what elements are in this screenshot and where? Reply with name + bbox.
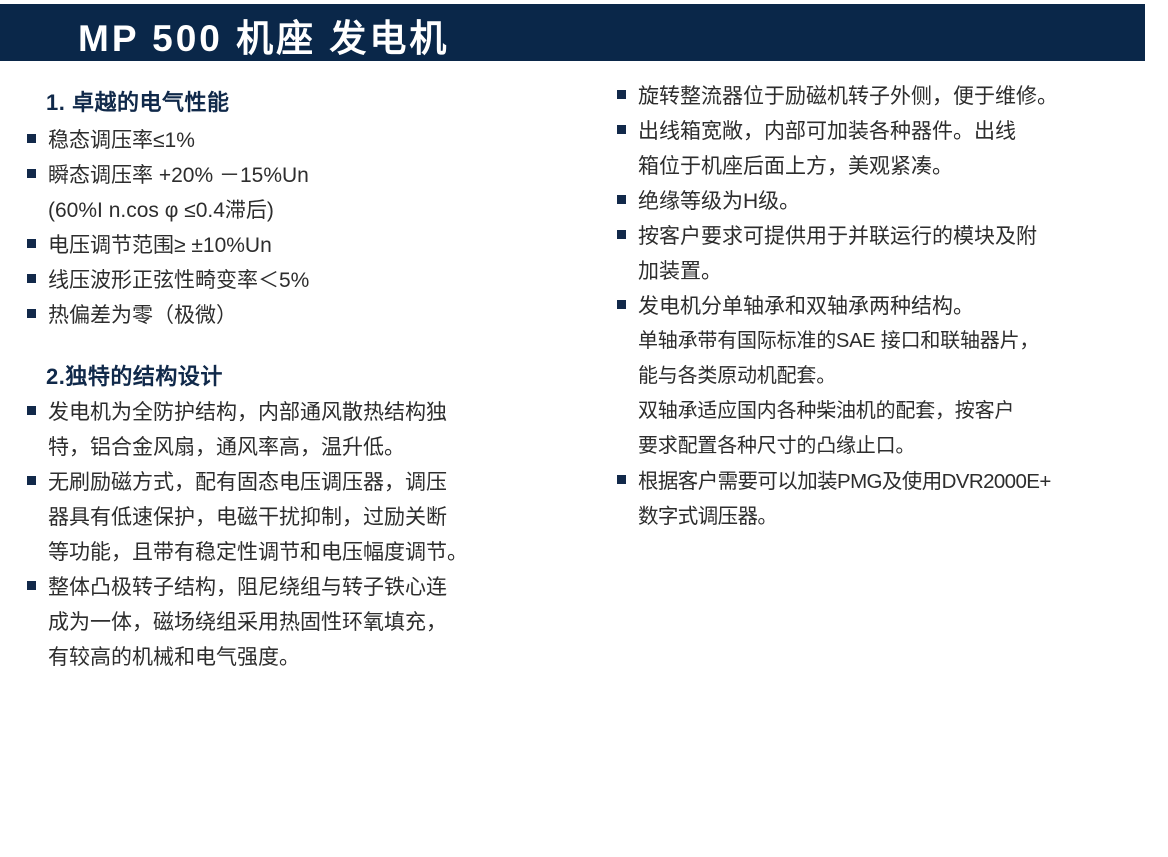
list-item: 整体凸极转子结构，阻尼绕组与转子铁心连 成为一体，磁场绕组采用热固性环氧填充， … <box>26 570 586 675</box>
bullet-line-continuation: 数字式调压器。 <box>638 499 1168 534</box>
square-bullet-icon <box>617 195 626 204</box>
bullet-line: 根据客户需要可以加装PMG及使用DVR2000E+ <box>638 464 1168 499</box>
bullet-line-continuation: 特，铝合金风扇，通风率高，温升低。 <box>48 430 586 465</box>
bullet-line-continuation: 要求配置各种尺寸的凸缘止口。 <box>638 429 1168 464</box>
section-heading-1: 1. 卓越的电气性能 <box>46 85 586 117</box>
square-bullet-icon <box>617 90 626 99</box>
right-column: 旋转整流器位于励磁机转子外侧，便于维修。 出线箱宽敞，内部可加装各种器件。出线 … <box>616 61 1168 534</box>
square-bullet-icon <box>27 581 36 590</box>
bullet-line: 旋转整流器位于励磁机转子外侧，便于维修。 <box>638 79 1168 114</box>
list-item: 瞬态调压率 +20% －15%Un (60%I n.cos φ ≤0.4滞后) <box>26 158 586 228</box>
bullet-line: 线压波形正弦性畸变率＜5% <box>48 263 586 298</box>
bullet-line: 无刷励磁方式，配有固态电压调压器，调压 <box>48 465 586 500</box>
list-item: 无刷励磁方式，配有固态电压调压器，调压 器具有低速保护，电磁干扰抑制，过励关断 … <box>26 465 586 570</box>
square-bullet-icon <box>617 125 626 134</box>
bullet-line: 发电机分单轴承和双轴承两种结构。 <box>638 289 1168 324</box>
bullet-line: 出线箱宽敞，内部可加装各种器件。出线 <box>638 114 1168 149</box>
square-bullet-icon <box>27 309 36 318</box>
feature-list-electrical: 稳态调压率≤1% 瞬态调压率 +20% －15%Un (60%I n.cos φ… <box>26 123 586 333</box>
bullet-line: 按客户要求可提供用于并联运行的模块及附 <box>638 219 1168 254</box>
bullet-line: 发电机为全防护结构，内部通风散热结构独 <box>48 395 586 430</box>
header-banner: MP 500 机座 发电机 <box>0 4 1145 61</box>
bullet-line: 热偏差为零（极微） <box>48 298 586 333</box>
square-bullet-icon <box>27 476 36 485</box>
list-item: 热偏差为零（极微） <box>26 298 586 333</box>
bullet-line: 绝缘等级为H级。 <box>638 184 1168 219</box>
feature-list-structure: 发电机为全防护结构，内部通风散热结构独 特，铝合金风扇，通风率高，温升低。 无刷… <box>26 395 586 675</box>
list-item: 电压调节范围≥ ±10%Un <box>26 228 586 263</box>
bullet-line: 电压调节范围≥ ±10%Un <box>48 228 586 263</box>
list-item: 按客户要求可提供用于并联运行的模块及附 加装置。 <box>616 219 1168 289</box>
bullet-line-continuation: 成为一体，磁场绕组采用热固性环氧填充， <box>48 605 586 640</box>
list-item: 发电机为全防护结构，内部通风散热结构独 特，铝合金风扇，通风率高，温升低。 <box>26 395 586 465</box>
square-bullet-icon <box>27 134 36 143</box>
square-bullet-icon <box>27 274 36 283</box>
bullet-line-continuation: 加装置。 <box>638 254 1168 289</box>
square-bullet-icon <box>617 230 626 239</box>
feature-list-additional: 旋转整流器位于励磁机转子外侧，便于维修。 出线箱宽敞，内部可加装各种器件。出线 … <box>616 79 1168 534</box>
list-item: 绝缘等级为H级。 <box>616 184 1168 219</box>
bullet-line-continuation: 箱位于机座后面上方，美观紧凑。 <box>638 149 1168 184</box>
bullet-line-continuation: 器具有低速保护，电磁干扰抑制，过励关断 <box>48 500 586 535</box>
square-bullet-icon <box>617 475 626 484</box>
bullet-line: 整体凸极转子结构，阻尼绕组与转子铁心连 <box>48 570 586 605</box>
bullet-line-continuation: 有较高的机械和电气强度。 <box>48 640 586 675</box>
square-bullet-icon <box>27 169 36 178</box>
bullet-line-continuation: 双轴承适应国内各种柴油机的配套，按客户 <box>638 394 1168 429</box>
list-item: 根据客户需要可以加装PMG及使用DVR2000E+ 数字式调压器。 <box>616 464 1168 534</box>
bullet-line: 瞬态调压率 +20% －15%Un <box>48 158 586 193</box>
square-bullet-icon <box>27 406 36 415</box>
bullet-line-continuation: 等功能，且带有稳定性调节和电压幅度调节。 <box>48 535 586 570</box>
list-item: 出线箱宽敞，内部可加装各种器件。出线 箱位于机座后面上方，美观紧凑。 <box>616 114 1168 184</box>
list-item: 发电机分单轴承和双轴承两种结构。 单轴承带有国际标准的SAE 接口和联轴器片， … <box>616 289 1168 464</box>
content-area: 1. 卓越的电气性能 稳态调压率≤1% 瞬态调压率 +20% －15%Un (6… <box>0 61 1168 857</box>
bullet-line-continuation: (60%I n.cos φ ≤0.4滞后) <box>48 193 586 228</box>
bullet-line-continuation: 单轴承带有国际标准的SAE 接口和联轴器片， <box>638 324 1168 359</box>
list-item: 稳态调压率≤1% <box>26 123 586 158</box>
left-column: 1. 卓越的电气性能 稳态调压率≤1% 瞬态调压率 +20% －15%Un (6… <box>26 61 586 675</box>
section-heading-2: 2.独特的结构设计 <box>46 359 586 391</box>
list-item: 线压波形正弦性畸变率＜5% <box>26 263 586 298</box>
square-bullet-icon <box>27 239 36 248</box>
square-bullet-icon <box>617 300 626 309</box>
bullet-line-continuation: 能与各类原动机配套。 <box>638 359 1168 394</box>
page-title: MP 500 机座 发电机 <box>78 10 449 67</box>
list-item: 旋转整流器位于励磁机转子外侧，便于维修。 <box>616 79 1168 114</box>
bullet-line: 稳态调压率≤1% <box>48 123 586 158</box>
